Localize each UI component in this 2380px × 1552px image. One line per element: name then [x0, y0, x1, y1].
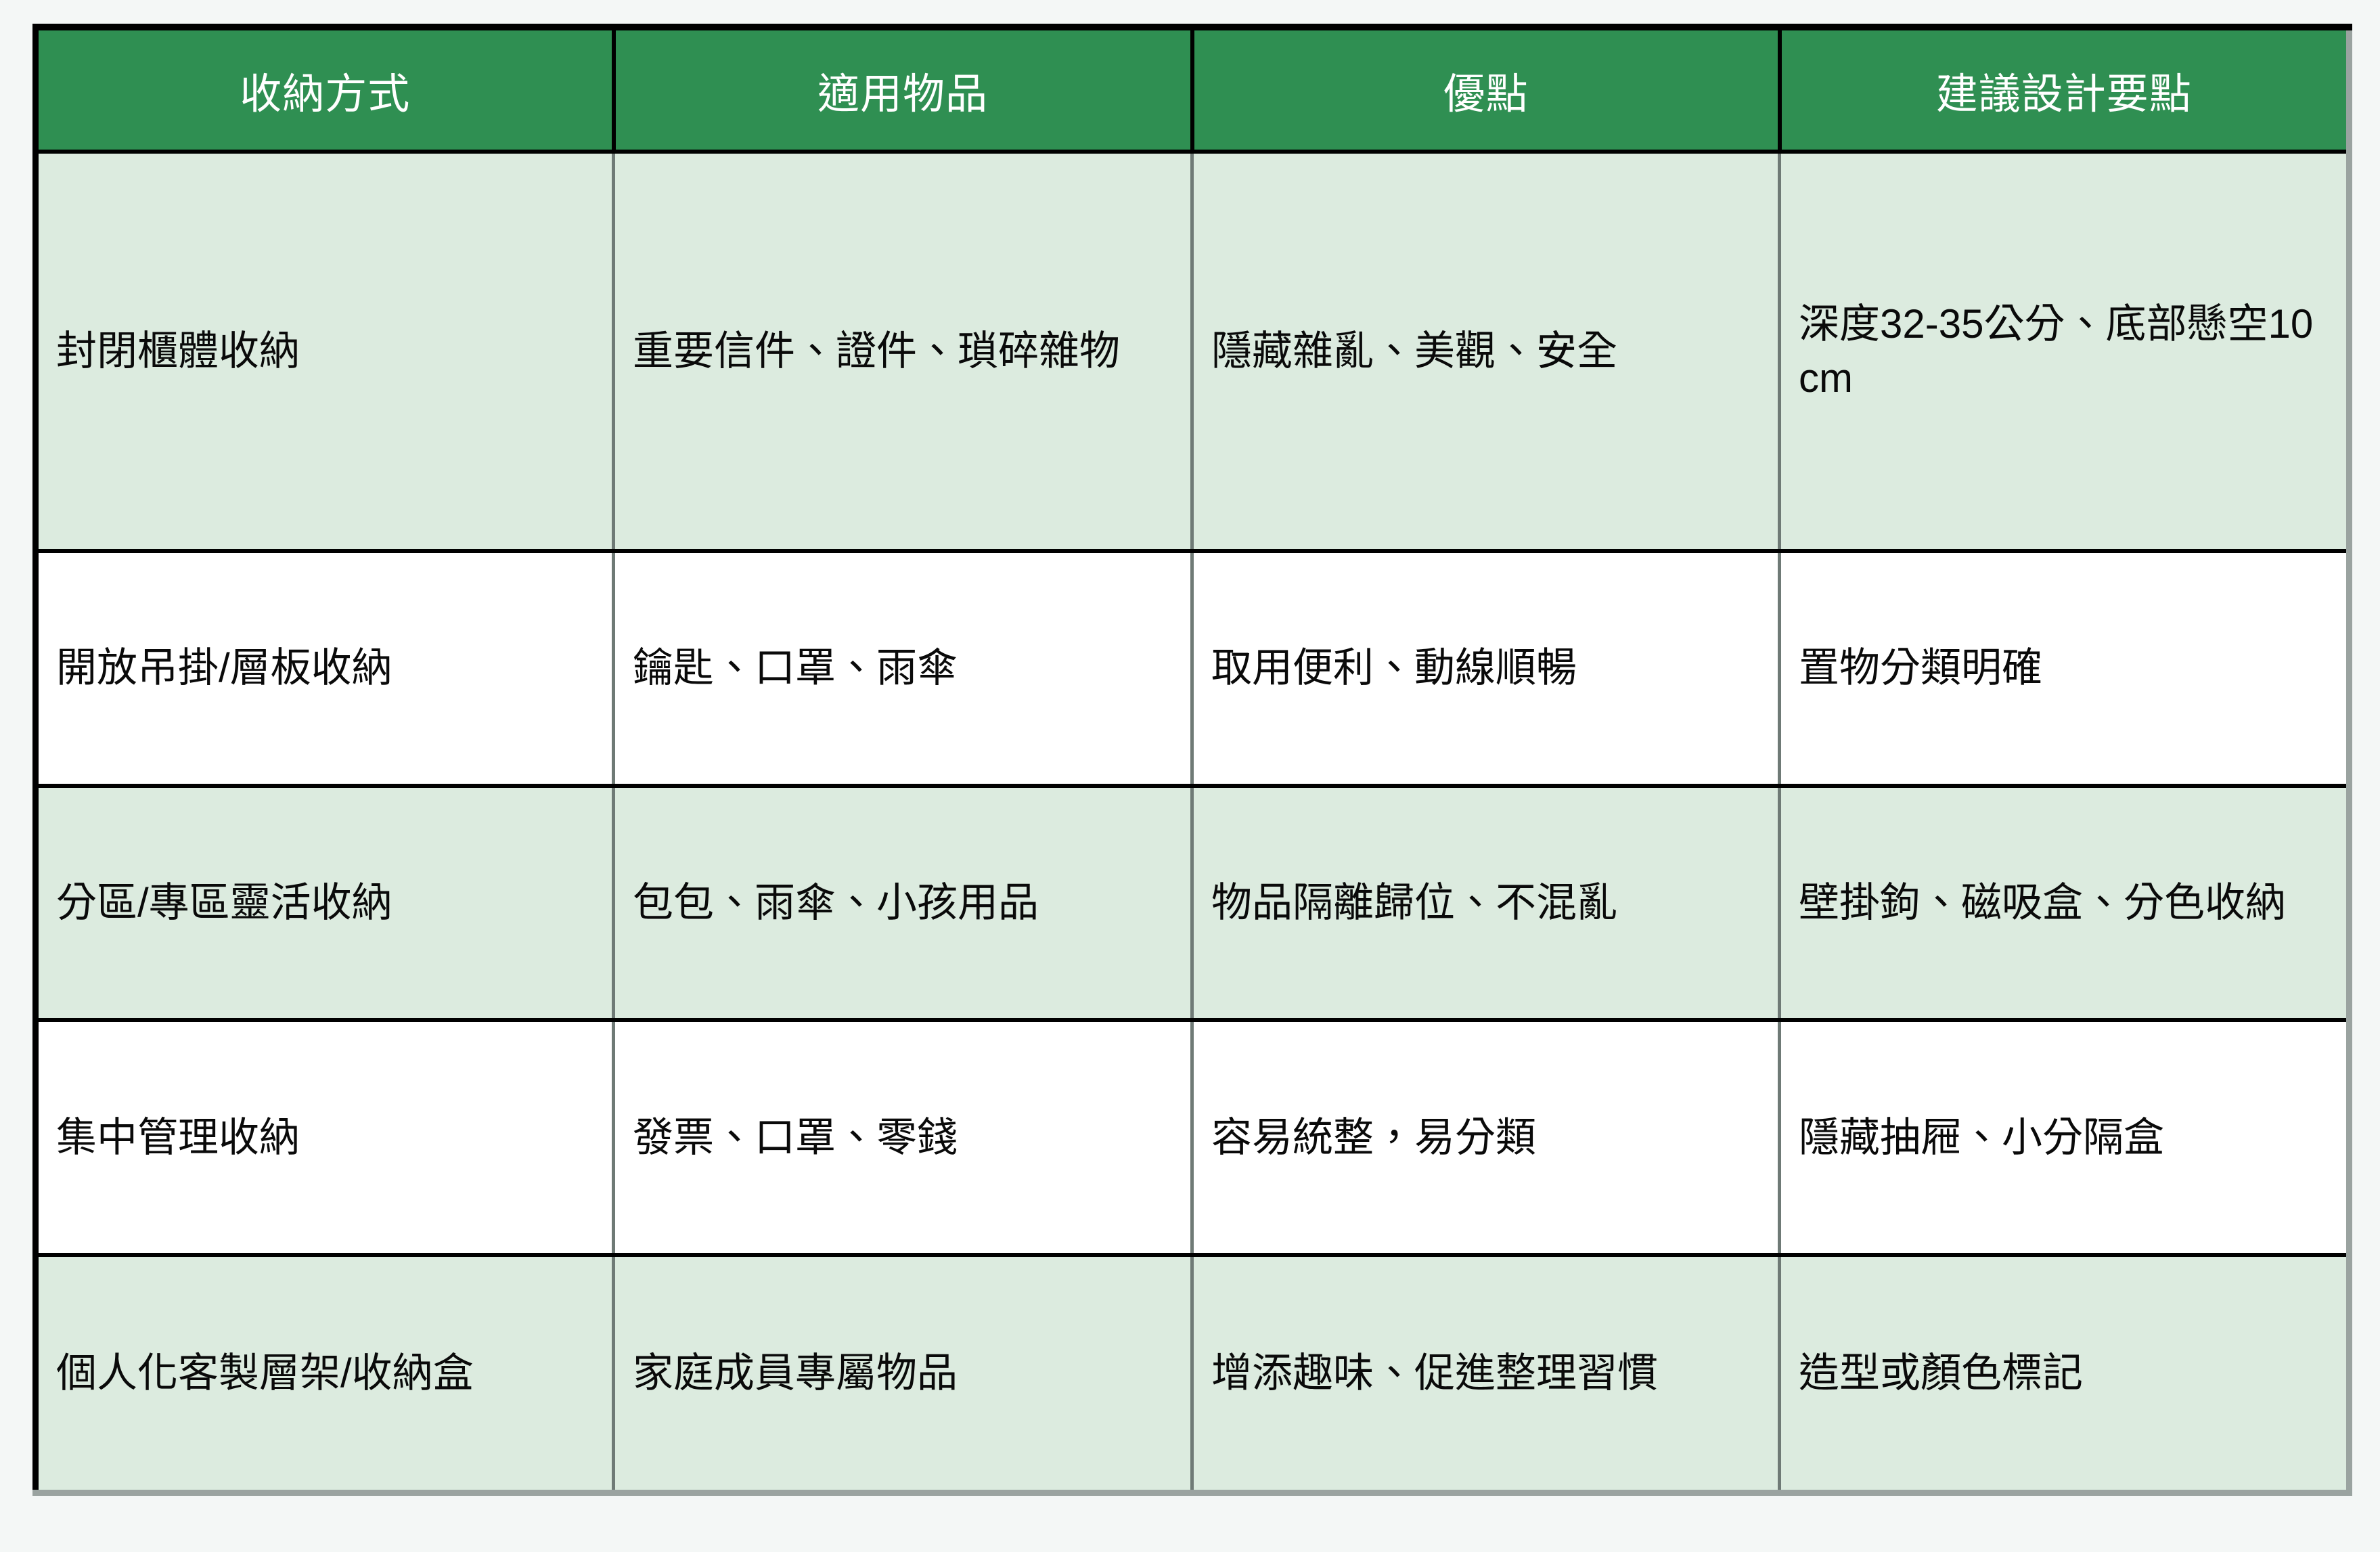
cell-storage-method: 開放吊掛/層板收納	[36, 551, 614, 786]
cell-text: 個人化客製層架/收納盒	[56, 1346, 594, 1400]
cell-text: 家庭成員專屬物品	[633, 1346, 1173, 1400]
table-row: 分區/專區靈活收納 包包、雨傘、小孩用品 物品隔離歸位、不混亂 壁掛鉤、磁吸盒、…	[36, 786, 2350, 1021]
table-row: 封閉櫃體收納 重要信件、證件、瑣碎雜物 隱藏雜亂、美觀、安全 深度32-35公分…	[36, 152, 2350, 551]
cell-advantages: 物品隔離歸位、不混亂	[1192, 786, 1780, 1021]
table-row: 開放吊掛/層板收納 鑰匙、口罩、雨傘 取用便利、動線順暢 置物分類明確	[36, 551, 2350, 786]
cell-text: 封閉櫃體收納	[56, 324, 594, 378]
cell-text: 隱藏雜亂、美觀、安全	[1211, 324, 1760, 378]
column-header-design-tips: 建議設計要點	[1780, 27, 2350, 152]
cell-design-tips: 置物分類明確	[1780, 551, 2350, 786]
cell-text: 容易統整，易分類	[1211, 1111, 1760, 1165]
table-row: 個人化客製層架/收納盒 家庭成員專屬物品 增添趣味、促進整理習慣 造型或顏色標記	[36, 1255, 2350, 1492]
cell-suitable-items: 包包、雨傘、小孩用品	[614, 786, 1192, 1021]
cell-design-tips: 深度32-35公分、底部懸空10cm	[1780, 152, 2350, 551]
storage-comparison-table-wrapper: 收納方式 適用物品 優點 建議設計要點 封閉櫃體收納 重要信件、證件、瑣碎雜物 …	[32, 24, 2346, 1496]
cell-storage-method: 分區/專區靈活收納	[36, 786, 614, 1021]
header-row: 收納方式 適用物品 優點 建議設計要點	[36, 27, 2350, 152]
table-row: 集中管理收納 發票、口罩、零錢 容易統整，易分類 隱藏抽屜、小分隔盒	[36, 1020, 2350, 1255]
cell-text: 隱藏抽屜、小分隔盒	[1799, 1111, 2329, 1165]
cell-suitable-items: 重要信件、證件、瑣碎雜物	[614, 152, 1192, 551]
table-header: 收納方式 適用物品 優點 建議設計要點	[36, 27, 2350, 152]
cell-suitable-items: 發票、口罩、零錢	[614, 1020, 1192, 1255]
cell-storage-method: 封閉櫃體收納	[36, 152, 614, 551]
cell-storage-method: 個人化客製層架/收納盒	[36, 1255, 614, 1492]
cell-suitable-items: 鑰匙、口罩、雨傘	[614, 551, 1192, 786]
cell-advantages: 取用便利、動線順暢	[1192, 551, 1780, 786]
cell-text: 取用便利、動線順暢	[1211, 641, 1760, 695]
column-header-storage-method: 收納方式	[36, 27, 614, 152]
cell-advantages: 增添趣味、促進整理習慣	[1192, 1255, 1780, 1492]
cell-text: 重要信件、證件、瑣碎雜物	[633, 324, 1173, 378]
column-header-advantages: 優點	[1192, 27, 1780, 152]
table-body: 封閉櫃體收納 重要信件、證件、瑣碎雜物 隱藏雜亂、美觀、安全 深度32-35公分…	[36, 152, 2350, 1493]
cell-design-tips: 造型或顏色標記	[1780, 1255, 2350, 1492]
cell-text: 物品隔離歸位、不混亂	[1211, 876, 1760, 930]
cell-text: 集中管理收納	[56, 1111, 594, 1165]
cell-design-tips: 壁掛鉤、磁吸盒、分色收納	[1780, 786, 2350, 1021]
cell-text: 開放吊掛/層板收納	[56, 641, 594, 695]
cell-text: 壁掛鉤、磁吸盒、分色收納	[1799, 876, 2329, 930]
cell-text: 分區/專區靈活收納	[56, 876, 594, 930]
cell-text: 發票、口罩、零錢	[633, 1111, 1173, 1165]
cell-text: 包包、雨傘、小孩用品	[633, 876, 1173, 930]
storage-comparison-table: 收納方式 適用物品 優點 建議設計要點 封閉櫃體收納 重要信件、證件、瑣碎雜物 …	[32, 24, 2352, 1496]
cell-text: 深度32-35公分、底部懸空10cm	[1799, 297, 2329, 405]
cell-text: 置物分類明確	[1799, 641, 2329, 695]
cell-advantages: 隱藏雜亂、美觀、安全	[1192, 152, 1780, 551]
column-header-suitable-items: 適用物品	[614, 27, 1192, 152]
cell-text: 鑰匙、口罩、雨傘	[633, 641, 1173, 695]
cell-storage-method: 集中管理收納	[36, 1020, 614, 1255]
cell-text: 造型或顏色標記	[1799, 1346, 2329, 1400]
cell-suitable-items: 家庭成員專屬物品	[614, 1255, 1192, 1492]
cell-advantages: 容易統整，易分類	[1192, 1020, 1780, 1255]
page-root: 收納方式 適用物品 優點 建議設計要點 封閉櫃體收納 重要信件、證件、瑣碎雜物 …	[0, 0, 2380, 1552]
cell-design-tips: 隱藏抽屜、小分隔盒	[1780, 1020, 2350, 1255]
cell-text: 增添趣味、促進整理習慣	[1211, 1346, 1760, 1400]
